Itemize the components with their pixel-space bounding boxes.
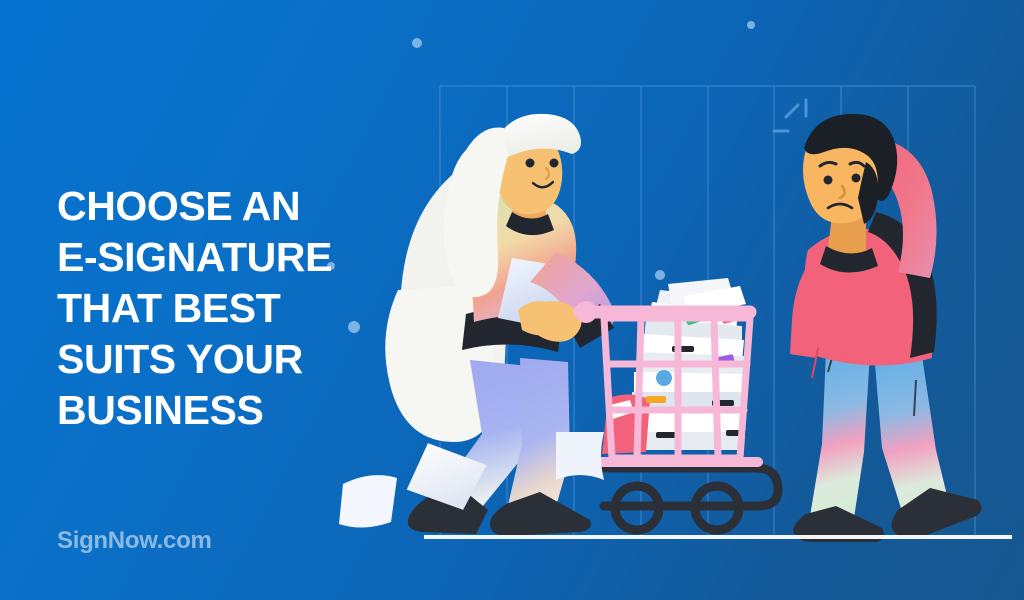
headline-line-2: E-SIGNATURE bbox=[57, 232, 387, 283]
headline-line-1: CHOOSE AN bbox=[57, 181, 387, 232]
eye bbox=[852, 174, 861, 183]
falling-paper bbox=[339, 475, 397, 527]
shopping-cart bbox=[575, 278, 778, 530]
headline-line-4: SUITS YOUR bbox=[57, 334, 387, 385]
falling-paper bbox=[556, 432, 604, 480]
figure-man-worried bbox=[774, 100, 982, 542]
headline-line-3: THAT BEST bbox=[57, 283, 387, 334]
shoe-front bbox=[490, 492, 591, 536]
eye bbox=[526, 159, 535, 168]
tab-orange bbox=[646, 396, 666, 403]
ground-line bbox=[424, 535, 1012, 539]
headline-line-5: BUSINESS bbox=[57, 385, 387, 436]
leg-back bbox=[810, 352, 870, 518]
banner-root: CHOOSE AN E-SIGNATURE THAT BEST SUITS YO… bbox=[0, 0, 1024, 600]
brand-logo[interactable]: SignNow.com bbox=[57, 527, 211, 555]
tab-dot-blue bbox=[656, 370, 672, 386]
eye bbox=[550, 159, 559, 168]
forearm-skin bbox=[518, 301, 558, 335]
page-title: CHOOSE AN E-SIGNATURE THAT BEST SUITS YO… bbox=[57, 181, 387, 436]
eye bbox=[824, 176, 833, 185]
cart-handle-grip bbox=[575, 301, 597, 323]
stress-marks-icon bbox=[774, 100, 806, 131]
